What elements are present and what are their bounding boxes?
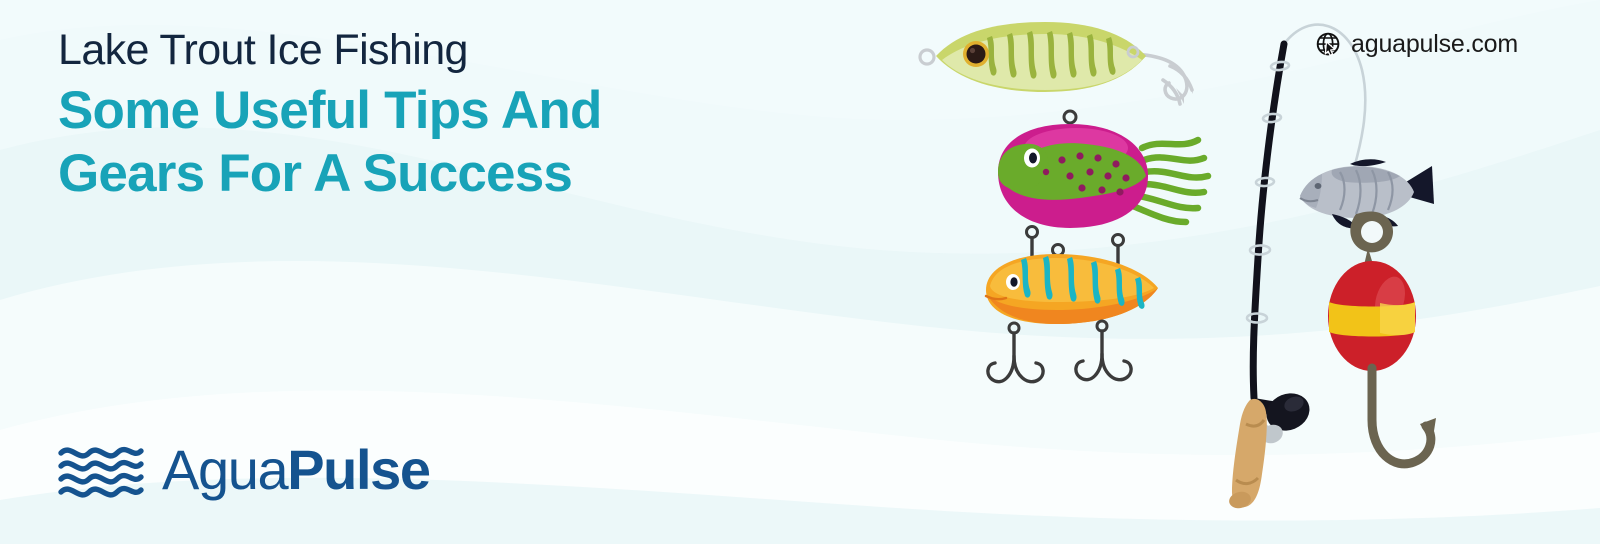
wave-lines-mark-icon: [57, 439, 145, 501]
jerkbait-lure: [920, 22, 1193, 104]
brand-logo-text-bold: Pulse: [287, 438, 429, 501]
headline-block: Lake Trout Ice Fishing Some Useful Tips …: [58, 26, 602, 205]
bobber-float: [1328, 211, 1436, 463]
crankbait-lure: [986, 245, 1158, 382]
site-url-text: aguapulse.com: [1351, 30, 1518, 59]
brand-logo-text-light: Agua: [162, 438, 287, 501]
fishing-gear-illustration: [880, 0, 1600, 544]
headline-line-1: Some Useful Tips And: [58, 81, 602, 140]
globe-icon: [1315, 31, 1342, 58]
headline-line-2: Gears For A Success: [58, 143, 602, 206]
site-url[interactable]: aguapulse.com: [1315, 30, 1518, 59]
brand-logo-text: AguaPulse: [162, 437, 430, 502]
fishing-rod: [1227, 25, 1365, 511]
eyebrow-text: Lake Trout Ice Fishing: [58, 26, 602, 74]
brand-logo[interactable]: AguaPulse: [57, 437, 430, 502]
fishing-article-banner: Lake Trout Ice Fishing Some Useful Tips …: [0, 0, 1600, 544]
headline-text: Some Useful Tips And Gears For A Success: [58, 80, 602, 205]
